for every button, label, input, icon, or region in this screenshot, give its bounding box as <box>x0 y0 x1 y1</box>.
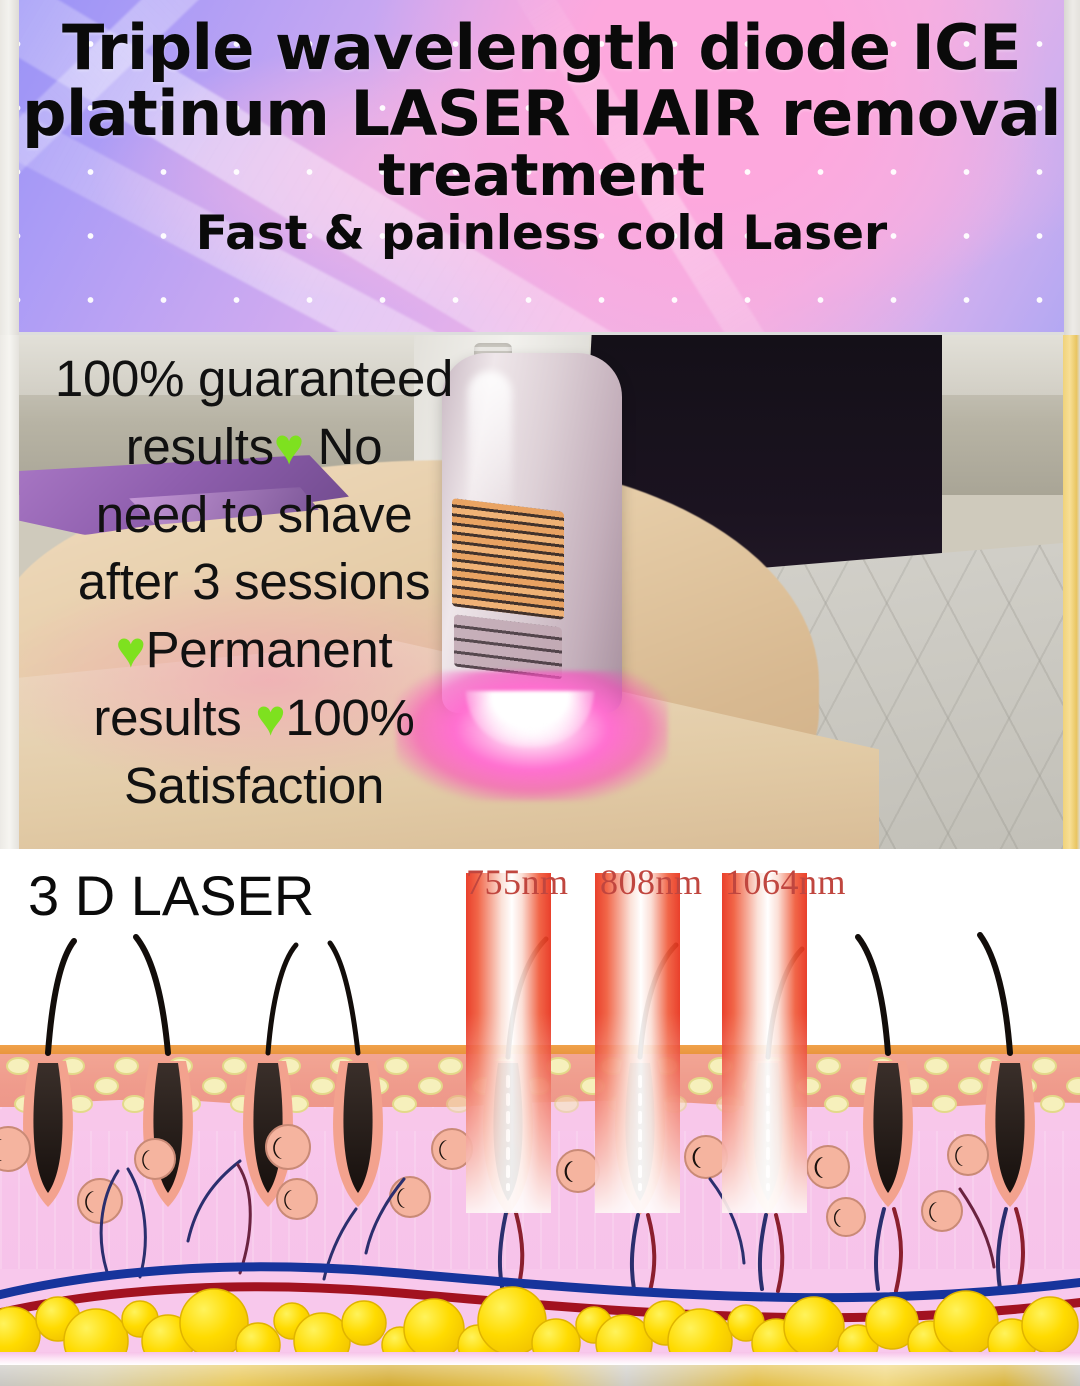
overlay-line-1: 100% guaranteed <box>19 345 489 413</box>
header-title-line-2: platinum LASER HAIR removal <box>22 82 1061 146</box>
header-banner: Triple wavelength diode ICE platinum LAS… <box>0 0 1080 335</box>
overlay-line-3: need to shave <box>19 481 489 549</box>
header-title-line-3: treatment <box>378 145 705 205</box>
header-title-line-1: Triple wavelength diode ICE <box>62 16 1021 80</box>
treatment-photo: 100% guaranteed results♥ No need to shav… <box>0 335 1080 849</box>
wavelength-label-3: 1064nm <box>725 861 846 903</box>
diagram-title: 3 D LASER <box>28 863 314 928</box>
header-left-edge <box>0 0 19 335</box>
hair-follicles <box>23 1061 1035 1215</box>
green-heart-icon: ♥ <box>274 418 304 475</box>
header-right-edge <box>1064 0 1080 335</box>
wavelength-label-1: 755nm <box>466 861 569 903</box>
green-heart-icon: ♥ <box>116 621 146 678</box>
header-subtitle: Fast & painless cold Laser <box>196 209 887 258</box>
skin-cross-section-diagram: 755nm 808nm 1064nm 3 D LASER <box>0 849 1080 1365</box>
overlay-line-5: ♥Permanent <box>19 616 489 684</box>
wavelength-label-2: 808nm <box>600 861 703 903</box>
green-heart-icon: ♥ <box>255 689 285 746</box>
diagram-bottom-fade <box>0 1352 1080 1365</box>
hair-shafts-above-skin <box>48 935 1010 1057</box>
header-background: Triple wavelength diode ICE platinum LAS… <box>19 0 1064 332</box>
overlay-line-4: after 3 sessions <box>19 548 489 616</box>
bottom-image-strip <box>0 1365 1080 1386</box>
photo-overlay-text: 100% guaranteed results♥ No need to shav… <box>19 345 489 820</box>
photo-right-gold-edge <box>1063 335 1080 849</box>
promo-graphic: Triple wavelength diode ICE platinum LAS… <box>0 0 1080 1386</box>
overlay-line-7: Satisfaction <box>19 752 489 820</box>
overlay-line-6: results ♥100% <box>19 684 489 752</box>
bottom-strip-highlight <box>0 1365 1080 1386</box>
overlay-line-2: results♥ No <box>19 413 489 481</box>
header-text-block: Triple wavelength diode ICE platinum LAS… <box>19 0 1064 332</box>
photo-left-edge <box>0 335 19 849</box>
